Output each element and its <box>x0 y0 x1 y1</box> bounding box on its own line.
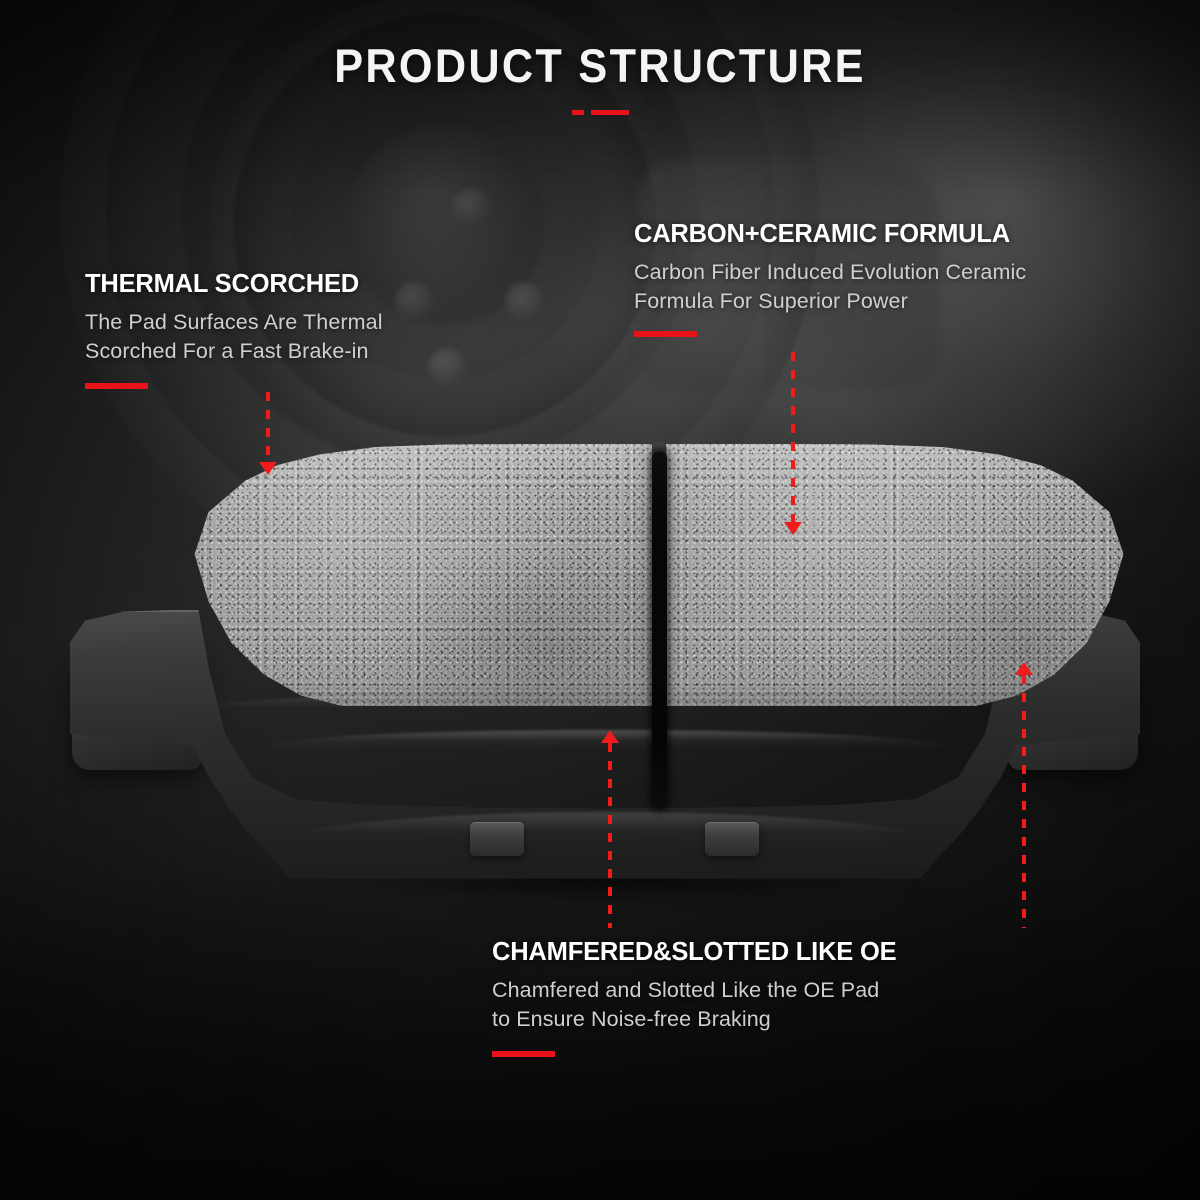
leader-dash-carbon <box>791 352 795 524</box>
leader-dash-chamfer-slot <box>608 743 612 928</box>
callout-heading-thermal: THERMAL SCORCHED <box>85 270 383 299</box>
callout-accent-bar-chamfer <box>492 1051 555 1057</box>
callout-body-line-2: Scorched For a Fast Brake-in <box>85 339 369 363</box>
callout-body-line-2: Formula For Superior Power <box>634 289 908 313</box>
callout-accent-bar-thermal <box>85 383 148 389</box>
callout-heading-carbon: CARBON+CERAMIC FORMULA <box>634 220 1026 249</box>
friction-surface-left <box>190 444 652 706</box>
callout-body-carbon: Carbon Fiber Induced Evolution Ceramic F… <box>634 258 1026 315</box>
infographic-canvas: PRODUCT STRUCTURE <box>0 0 1200 1200</box>
arrow-down-icon <box>259 462 277 475</box>
callout-carbon-ceramic-formula: CARBON+CERAMIC FORMULA Carbon Fiber Indu… <box>634 220 1026 337</box>
friction-sheen-left <box>190 444 652 706</box>
callout-thermal-scorched: THERMAL SCORCHED The Pad Surfaces Are Th… <box>85 270 383 389</box>
page-title-block: PRODUCT STRUCTURE <box>0 38 1200 115</box>
arrow-down-icon <box>784 522 802 535</box>
center-slot <box>652 452 667 809</box>
accent-dash-short <box>572 110 584 115</box>
title-accent-rule <box>0 110 1200 115</box>
callout-body-line-1: Chamfered and Slotted Like the OE Pad <box>492 978 879 1002</box>
arrow-up-icon <box>1015 662 1033 675</box>
callout-body-line-1: The Pad Surfaces Are Thermal <box>85 310 383 334</box>
callout-heading-chamfer: CHAMFERED&SLOTTED LIKE OE <box>492 938 896 967</box>
leader-dash-chamfer-edge <box>1022 675 1026 928</box>
callout-body-chamfer: Chamfered and Slotted Like the OE Pad to… <box>492 976 896 1033</box>
callout-accent-bar-carbon <box>634 331 697 337</box>
friction-surface-right <box>666 444 1128 706</box>
brake-pad-illustration <box>60 430 1150 900</box>
page-title: PRODUCT STRUCTURE <box>48 38 1152 93</box>
arrow-up-icon <box>601 730 619 743</box>
callout-chamfered-slotted: CHAMFERED&SLOTTED LIKE OE Chamfered and … <box>492 938 896 1057</box>
callout-body-line-2: to Ensure Noise-free Braking <box>492 1007 771 1031</box>
callout-body-line-1: Carbon Fiber Induced Evolution Ceramic <box>634 260 1026 284</box>
accent-dash-long <box>591 110 629 115</box>
callout-body-thermal: The Pad Surfaces Are Thermal Scorched Fo… <box>85 308 383 365</box>
leader-dash-thermal <box>266 392 270 464</box>
friction-sheen-right <box>666 444 1128 706</box>
